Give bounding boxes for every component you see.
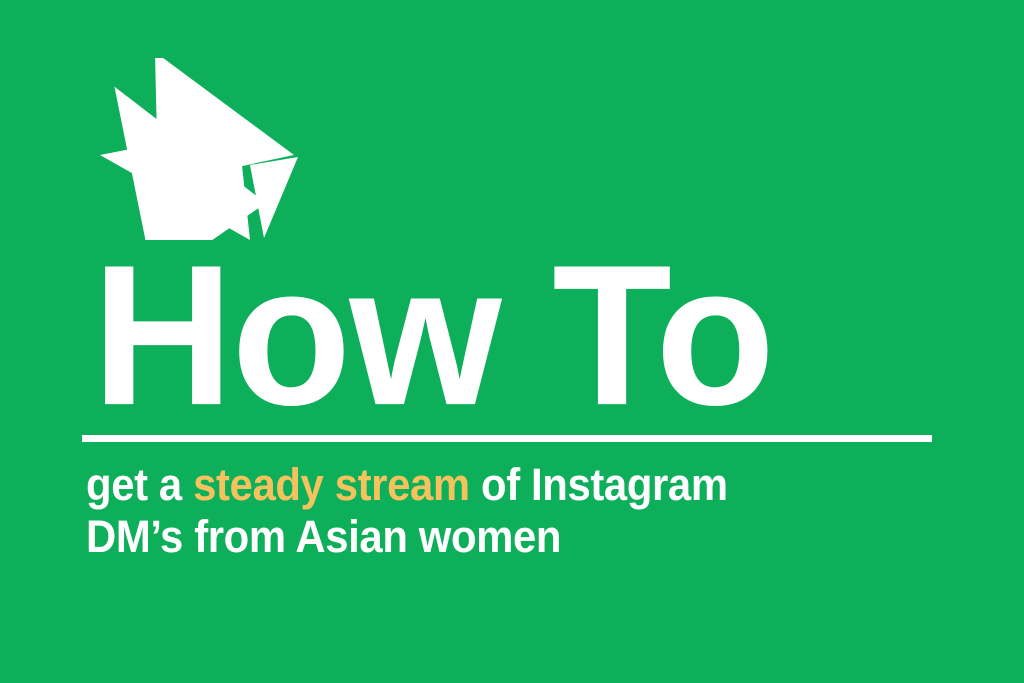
- envelope-icon: [98, 58, 298, 240]
- page-title: How To: [92, 246, 952, 426]
- divider: [82, 435, 932, 442]
- subtitle-line1-part1: get a: [86, 459, 193, 510]
- subtitle-highlight: steady stream: [193, 459, 470, 510]
- subtitle: get a steady stream of Instagram DM’s fr…: [86, 459, 904, 563]
- poster-canvas: How To get a steady stream of Instagram …: [0, 0, 1024, 683]
- subtitle-line1-part2: of Instagram: [470, 459, 728, 510]
- subtitle-line-1: get a steady stream of Instagram: [86, 459, 904, 511]
- subtitle-line-2: DM’s from Asian women: [86, 511, 904, 563]
